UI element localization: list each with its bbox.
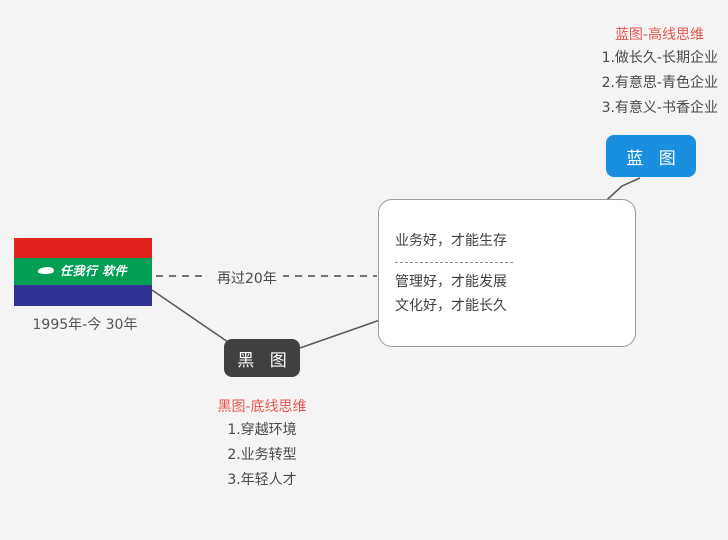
logo-wordmark: 任我行 软件	[60, 264, 127, 278]
annotation-blue-item-1: 1.做长久-长期企业	[602, 46, 718, 71]
card-line-survival: 业务好，才能生存	[395, 229, 531, 253]
edge-black-to-card	[300, 320, 380, 348]
logo-band-green: 任我行 软件	[14, 258, 152, 285]
annotation-blue-item-2: 2.有意思-青色企业	[602, 71, 718, 96]
logo-swoosh-icon	[37, 267, 54, 274]
company-logo: 任我行 软件	[14, 238, 152, 306]
annotation-blue-blueprint: 蓝图-高线思维 1.做长久-长期企业 2.有意思-青色企业 3.有意义-书香企业	[602, 24, 718, 121]
node-blue-blueprint[interactable]: 蓝 图	[606, 135, 696, 177]
logo-band-blue	[14, 285, 152, 306]
edge-logo-to-black	[152, 290, 228, 342]
card-line-longevity: 文化好，才能长久	[395, 294, 531, 318]
principles-card-text: 业务好，才能生存 管理好，才能发展 文化好，才能长久	[379, 229, 531, 318]
annotation-blue-item-3: 3.有意义-书香企业	[602, 96, 718, 121]
card-dashed-divider	[395, 262, 513, 263]
principles-card: 业务好，才能生存 管理好，才能发展 文化好，才能长久	[378, 199, 636, 347]
annotation-blue-title: 蓝图-高线思维	[602, 24, 718, 46]
node-black-blueprint[interactable]: 黑 图	[224, 339, 300, 377]
annotation-black-item-2: 2.业务转型	[182, 443, 342, 468]
timeline-label: 再过20年	[211, 268, 283, 288]
logo-caption: 1995年-今 30年	[14, 314, 156, 334]
annotation-black-item-1: 1.穿越环境	[182, 418, 342, 443]
annotation-black-title: 黑图-底线思维	[182, 396, 342, 418]
logo-band-red	[14, 238, 152, 258]
card-line-development: 管理好，才能发展	[395, 270, 531, 294]
diagram-canvas: 任我行 软件 1995年-今 30年 再过20年 黑 图 蓝 图 业务好，才能生…	[0, 0, 728, 498]
annotation-black-blueprint: 黑图-底线思维 1.穿越环境 2.业务转型 3.年轻人才	[182, 396, 342, 493]
annotation-black-item-3: 3.年轻人才	[182, 468, 342, 493]
